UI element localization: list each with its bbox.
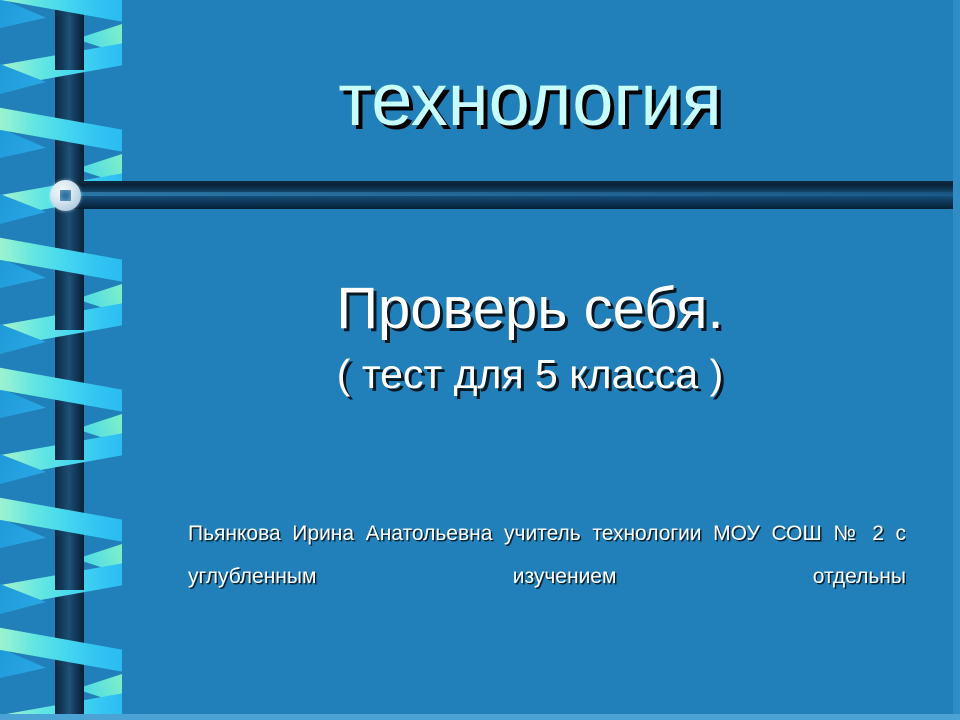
slide-subtitle-main: Проверь себя. — [120, 275, 940, 343]
presentation-slide: технология Проверь себя. ( тест для 5 кл… — [0, 0, 960, 720]
ribbon-pole-front-segment — [55, 536, 84, 590]
spiral-ribbon-decoration — [0, 0, 122, 720]
ribbon-pole-front-segment — [55, 276, 84, 330]
author-credits-block: Пьянкова Ирина Анатольевна учитель техно… — [188, 512, 906, 720]
slide-subtitle-secondary: ( тест для 5 класса ) — [120, 349, 940, 399]
bullet-bead-core-icon — [60, 190, 71, 201]
ribbon-pole-front-segment — [55, 666, 84, 720]
author-credits-text: Пьянкова Ирина Анатольевна учитель техно… — [188, 522, 906, 588]
slide-right-edge — [953, 0, 960, 720]
slide-title: технология — [120, 62, 940, 137]
ribbon-pole-front-segment — [55, 406, 84, 460]
horizontal-rule-highlight — [62, 192, 960, 196]
slide-subtitle-block: Проверь себя. ( тест для 5 класса ) — [120, 275, 940, 399]
ribbon-pole-front-segment — [55, 16, 84, 70]
slide-bottom-edge — [0, 714, 960, 720]
